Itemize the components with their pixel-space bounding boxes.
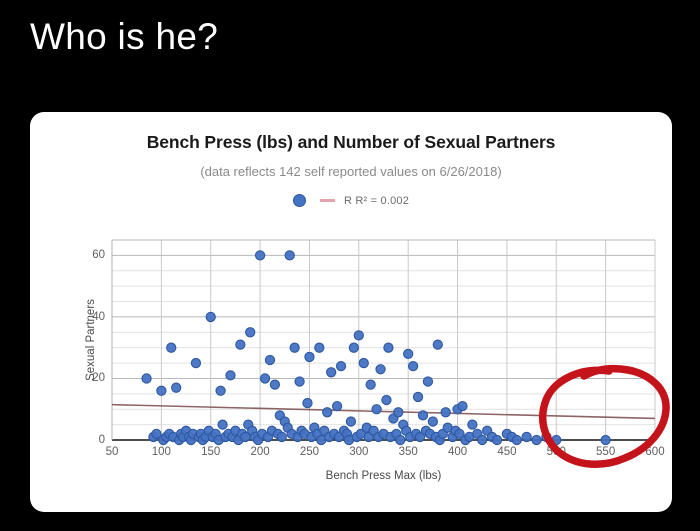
chart-card: Bench Press (lbs) and Number of Sexual P… (30, 112, 672, 512)
meme-caption: Who is he? (30, 16, 218, 58)
x-tick-label: 400 (448, 446, 467, 458)
x-tick-label: 500 (547, 446, 566, 458)
x-tick-label: 350 (399, 446, 418, 458)
chart-legend: R R² = 0.002 (30, 194, 672, 207)
legend-trendline-swatch-icon (320, 199, 335, 202)
x-axis-title: Bench Press Max (lbs) (112, 470, 655, 482)
chart-title: Bench Press (lbs) and Number of Sexual P… (30, 132, 672, 153)
x-tick-label: 300 (349, 446, 368, 458)
legend-marker-icon (293, 194, 306, 207)
y-tick-label: 60 (92, 249, 105, 261)
meme-root: Who is he? Bench Press (lbs) and Number … (0, 0, 700, 531)
legend-trend-label: R R² = 0.002 (344, 195, 409, 207)
y-axis-title: Sexual Partners (85, 299, 97, 381)
y-tick-label: 0 (99, 434, 105, 446)
x-tick-label: 550 (596, 446, 615, 458)
x-tick-label: 450 (497, 446, 516, 458)
x-tick-label: 50 (106, 446, 119, 458)
x-tick-label: 150 (201, 446, 220, 458)
chart-subtitle: (data reflects 142 self reported values … (30, 164, 672, 179)
x-tick-label: 600 (645, 446, 664, 458)
chart-scatter-points (112, 240, 655, 440)
x-tick-label: 100 (152, 446, 171, 458)
plot-area: 0204060 50100150200250300350400450500550… (112, 240, 655, 440)
x-tick-label: 200 (250, 446, 269, 458)
x-tick-label: 250 (300, 446, 319, 458)
